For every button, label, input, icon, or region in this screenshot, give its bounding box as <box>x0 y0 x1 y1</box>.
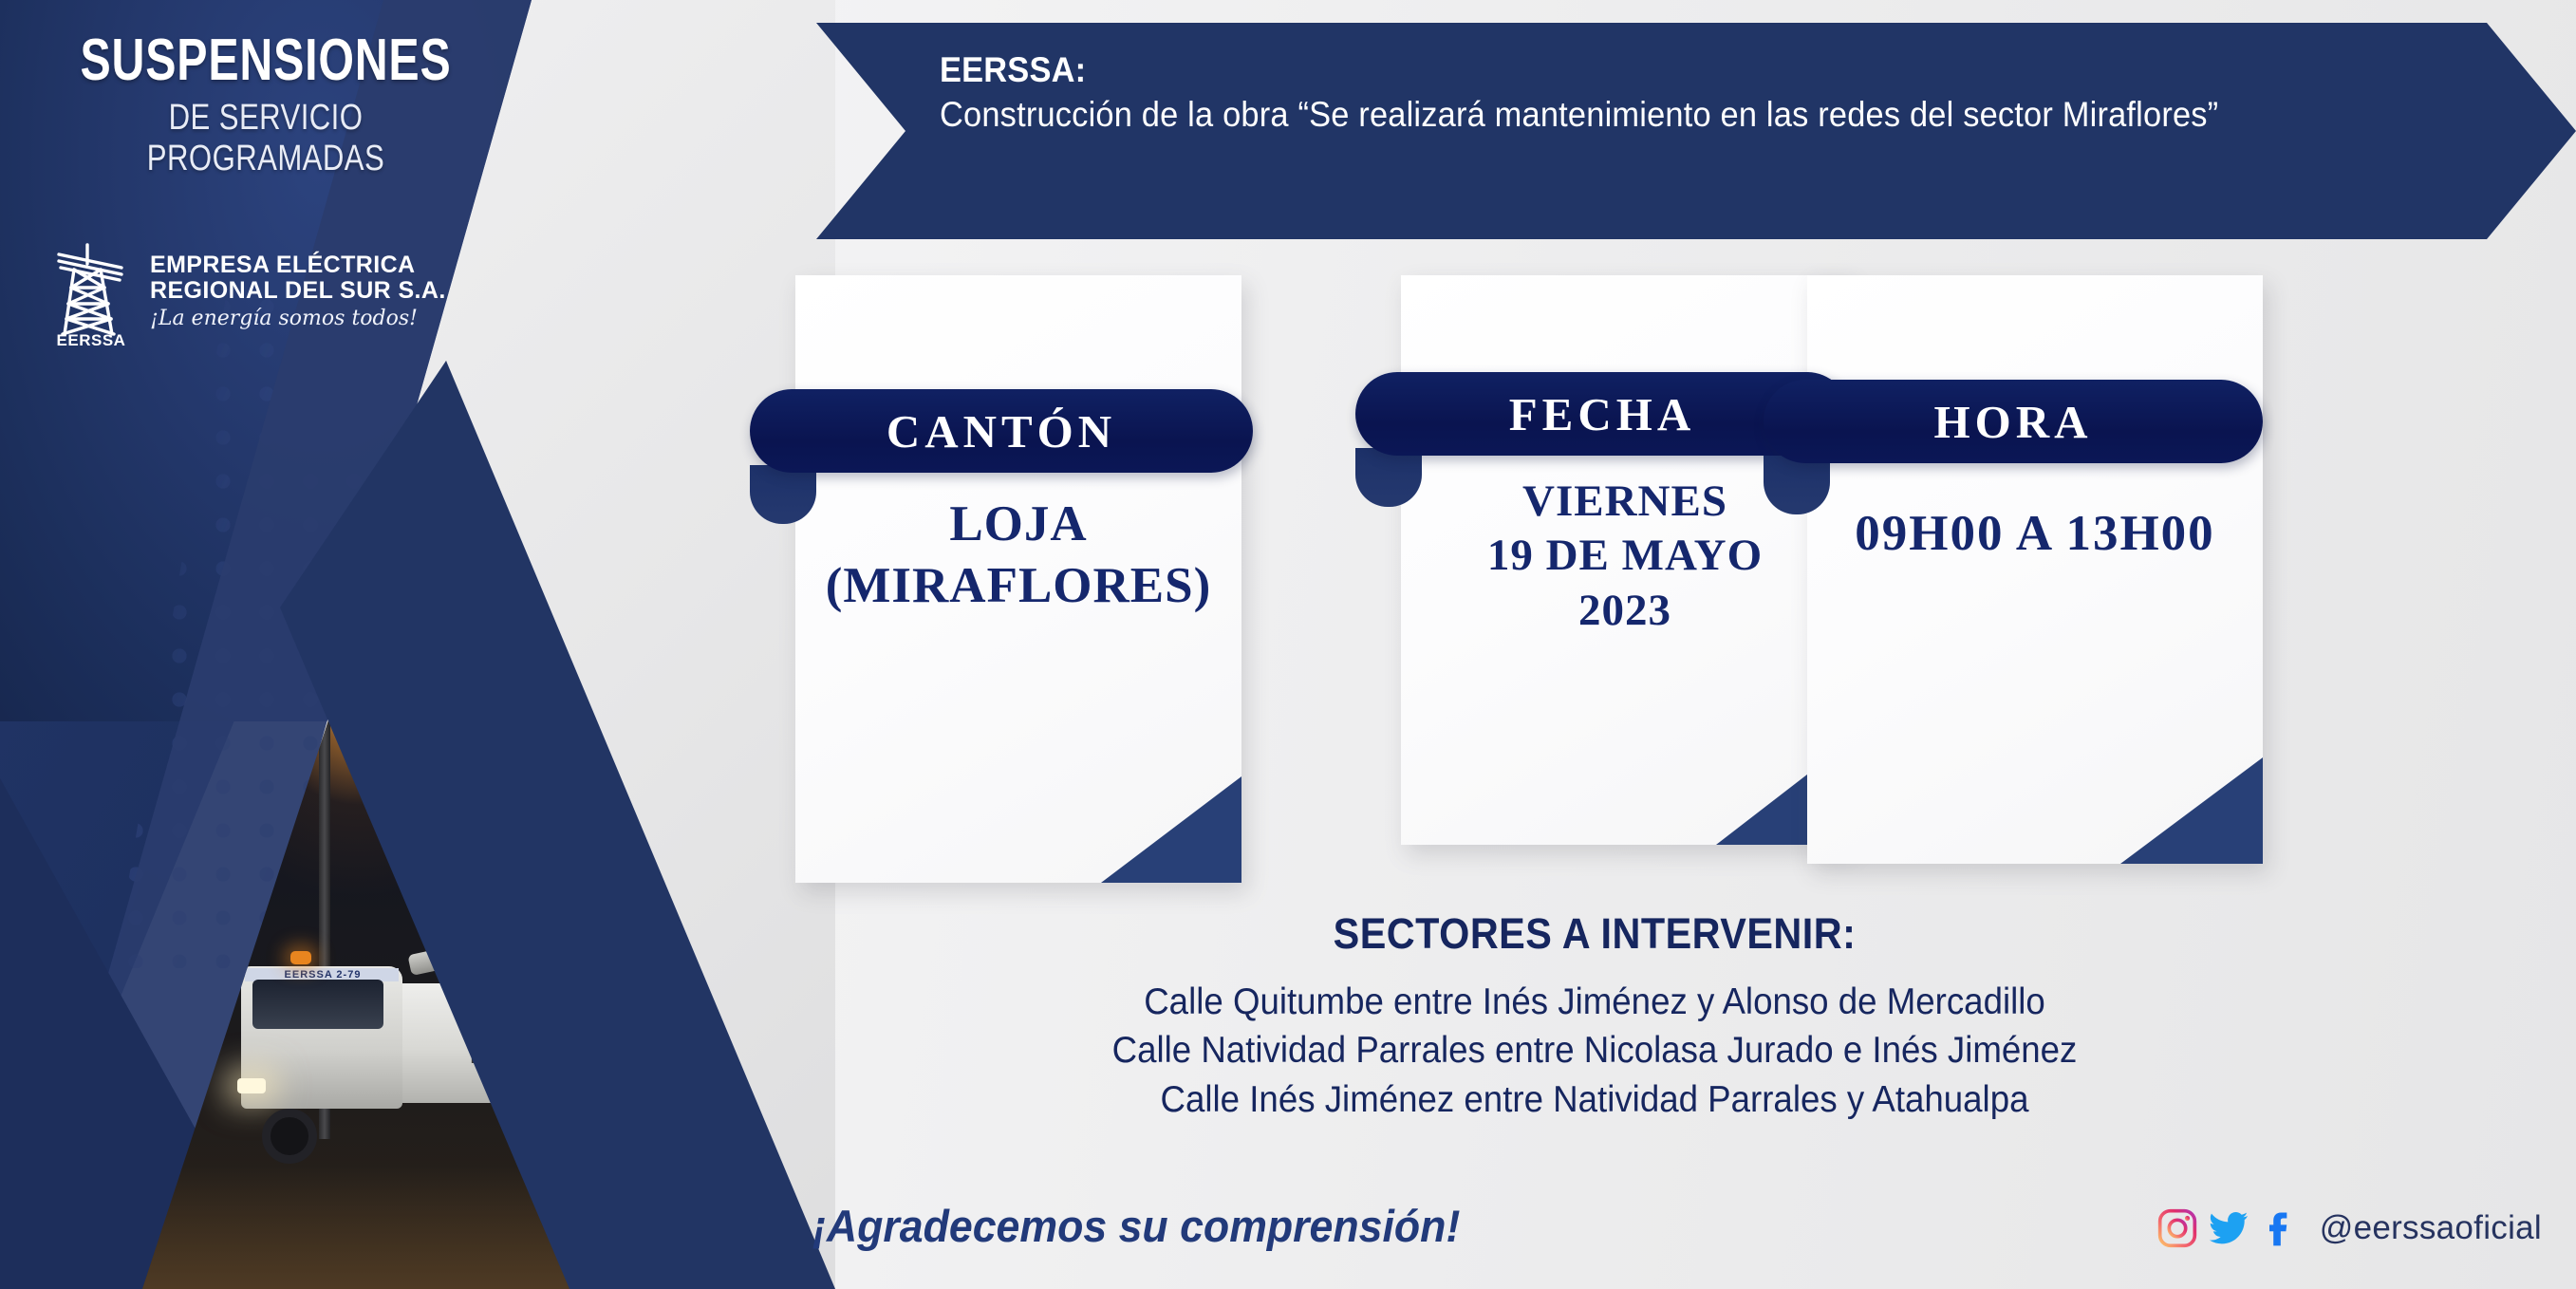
sectors-heading: SECTORES A INTERVENIR: <box>852 909 2337 959</box>
card-hora: 09H00 A 13H00 <box>1807 275 2263 864</box>
social-links: @eerssaoficial <box>2156 1207 2542 1249</box>
warning-beacon <box>290 951 311 964</box>
poster-canvas: E.E.R.S.S.A. EERSSA 2-79 SUSPENSIONES DE… <box>0 0 2576 1289</box>
card-hora-label: HORA <box>1764 380 2263 463</box>
info-cards: LOJA(MIRAFLORES) VIERNES19 DE MAYO2023 0… <box>759 285 2525 892</box>
sectors-list: Calle Quitumbe entre Inés Jiménez y Alon… <box>788 978 2401 1124</box>
sector-line: Calle Natividad Parrales entre Nicolasa … <box>836 1026 2353 1074</box>
card-hora-label-text: HORA <box>1934 395 2093 449</box>
card-canton-label: CANTÓN <box>750 389 1253 473</box>
headlamp <box>237 1078 266 1093</box>
svg-text:EERSSA: EERSSA <box>57 331 126 347</box>
thanks-message: ¡Agradecemos su comprensión! <box>812 1200 1460 1252</box>
brand-heading: SUSPENSIONES DE SERVICIO PROGRAMADAS <box>0 27 532 179</box>
twitter-icon[interactable] <box>2208 1207 2249 1249</box>
company-name-block: EMPRESA ELÉCTRICA REGIONAL DEL SUR S.A. … <box>150 252 446 330</box>
company-logo: EERSSA EMPRESA ELÉCTRICA REGIONAL DEL SU… <box>46 235 539 347</box>
sector-line: Calle Quitumbe entre Inés Jiménez y Alon… <box>836 978 2353 1026</box>
card-fecha-label-text: FECHA <box>1509 387 1696 441</box>
card-canton-label-wrap: CANTÓN <box>750 389 1253 473</box>
card-canton: LOJA(MIRAFLORES) <box>795 275 1241 883</box>
banner-heading: EERSSA: <box>940 47 2419 92</box>
left-branding-panel: E.E.R.S.S.A. EERSSA 2-79 SUSPENSIONES DE… <box>0 0 835 1289</box>
wheel-front <box>262 1109 317 1164</box>
social-handle[interactable]: @eerssaoficial <box>2320 1209 2542 1247</box>
announcement-banner: EERSSA: Construcción de la obra “Se real… <box>816 23 2576 239</box>
company-slogan: ¡La energía somos todos! <box>150 307 446 330</box>
card-hora-value: 09H00 A 13H00 <box>1779 503 2291 565</box>
card-canton-value: LOJA(MIRAFLORES) <box>795 494 1241 616</box>
card-corner-fold <box>1101 776 1241 883</box>
transmission-tower-icon: EERSSA <box>46 235 137 347</box>
instagram-icon[interactable] <box>2156 1207 2198 1249</box>
poster-title: SUSPENSIONES <box>59 27 474 94</box>
card-hora-label-wrap: HORA <box>1764 380 2263 463</box>
facebook-icon[interactable] <box>2259 1207 2301 1249</box>
card-canton-label-text: CANTÓN <box>887 404 1116 458</box>
poster-subtitle: DE SERVICIO PROGRAMADAS <box>47 98 483 179</box>
card-corner-fold <box>2120 757 2263 864</box>
sectors-section: SECTORES A INTERVENIR: Calle Quitumbe en… <box>788 909 2401 1124</box>
company-line-2: REGIONAL DEL SUR S.A. <box>150 278 446 304</box>
company-line-1: EMPRESA ELÉCTRICA <box>150 252 446 278</box>
cab-windshield <box>252 980 383 1029</box>
banner-body: Construcción de la obra “Se realizará ma… <box>940 92 2419 137</box>
sector-line: Calle Inés Jiménez entre Natividad Parra… <box>836 1075 2353 1124</box>
